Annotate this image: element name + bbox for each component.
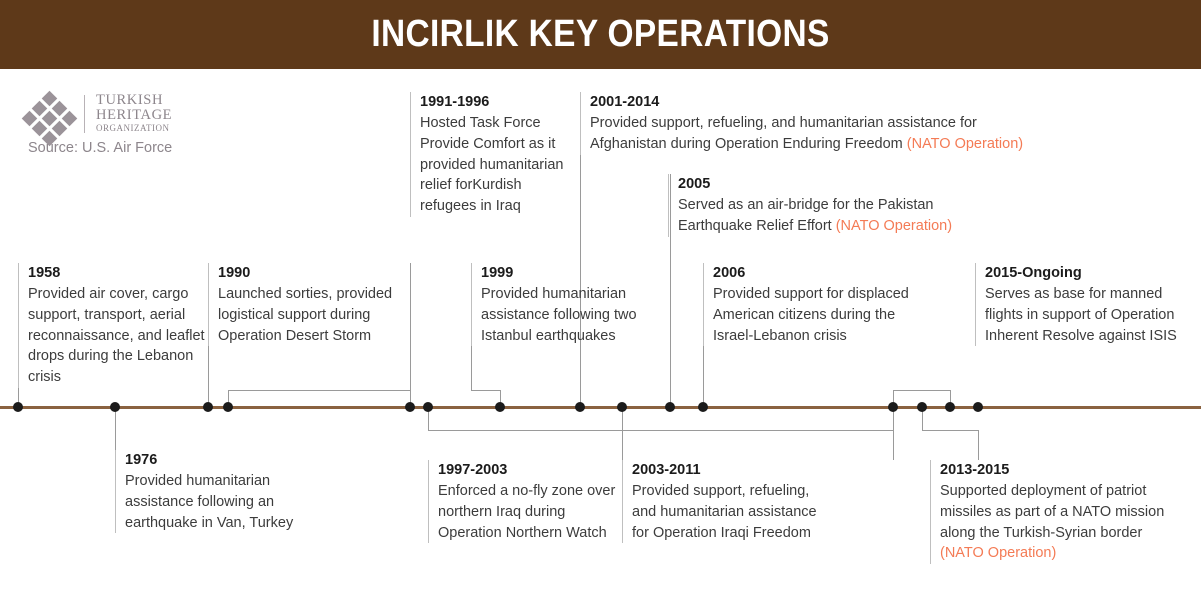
branding-block: TURKISH HERITAGE ORGANIZATION Source: U.… xyxy=(28,92,258,162)
logo-line-1: TURKISH xyxy=(96,93,172,108)
timeline-dot xyxy=(423,402,433,412)
entry-description: Supported deployment of patriot missiles… xyxy=(940,481,1170,564)
entry-year: 2001-2014 xyxy=(590,92,1040,113)
entry-description: Provided support, refueling, and humanit… xyxy=(632,481,837,543)
timeline-entry-1999[interactable]: 1999Provided humanitarian assistance fol… xyxy=(471,263,666,346)
timeline-entry-2015-Ongoing[interactable]: 2015-OngoingServes as base for manned fl… xyxy=(975,263,1190,346)
entry-description: Provided humanitarian assistance followi… xyxy=(481,284,666,346)
timeline-dot xyxy=(203,402,213,412)
timeline-dot xyxy=(575,402,585,412)
entry-description: Serves as base for manned flights in sup… xyxy=(985,284,1190,346)
entry-description: Provided humanitarian assistance followi… xyxy=(125,471,311,533)
page-title: INCIRLIK KEY OPERATIONS xyxy=(72,0,1129,69)
timeline-dot xyxy=(13,402,23,412)
entry-year: 2005 xyxy=(678,174,958,195)
entry-description: Provided support, refueling, and humanit… xyxy=(590,113,1040,155)
timeline-entry-2013-2015[interactable]: 2013-2015Supported deployment of patriot… xyxy=(930,460,1170,564)
timeline-dot xyxy=(973,402,983,412)
entry-year: 1976 xyxy=(125,450,311,471)
timeline-entry-2003-2011[interactable]: 2003-2011Provided support, refueling, an… xyxy=(622,460,837,543)
entry-year: 1990 xyxy=(218,263,398,284)
timeline-entry-1991-1996[interactable]: 1991-1996Hosted Task Force Provide Comfo… xyxy=(410,92,570,217)
entry-year: 2015-Ongoing xyxy=(985,263,1190,284)
timeline-entry-1997-2003[interactable]: 1997-2003Enforced a no-fly zone over nor… xyxy=(428,460,618,543)
timeline-entry-2006[interactable]: 2006Provided support for displaced Ameri… xyxy=(703,263,923,346)
entry-description: Provided air cover, cargo support, trans… xyxy=(28,284,214,388)
timeline-dot xyxy=(917,402,927,412)
entry-year: 2013-2015 xyxy=(940,460,1170,481)
entry-year: 1958 xyxy=(28,263,214,284)
timeline-dot xyxy=(405,402,415,412)
timeline-dot xyxy=(698,402,708,412)
timeline-entry-1976[interactable]: 1976Provided humanitarian assistance fol… xyxy=(115,450,311,533)
entry-year: 1997-2003 xyxy=(438,460,618,481)
timeline-dot xyxy=(495,402,505,412)
entry-year: 1999 xyxy=(481,263,666,284)
timeline-dot xyxy=(617,402,627,412)
turkish-heritage-diamond-logo-icon xyxy=(28,92,72,136)
entry-year: 2003-2011 xyxy=(632,460,837,481)
timeline-dot xyxy=(110,402,120,412)
entry-description: Launched sorties, provided logistical su… xyxy=(218,284,398,346)
logo-wordmark: TURKISH HERITAGE ORGANIZATION xyxy=(96,93,172,135)
nato-operation-tag: (NATO Operation) xyxy=(836,218,952,234)
entry-description: Enforced a no-fly zone over northern Ira… xyxy=(438,481,618,543)
timeline-dot xyxy=(665,402,675,412)
entry-description: Provided support for displaced American … xyxy=(713,284,923,346)
logo-divider xyxy=(84,95,85,133)
timeline-dot xyxy=(888,402,898,412)
entry-year: 2006 xyxy=(713,263,923,284)
entry-year: 1991-1996 xyxy=(420,92,570,113)
header-bar: INCIRLIK KEY OPERATIONS xyxy=(0,0,1201,69)
timeline-entry-2001-2014[interactable]: 2001-2014Provided support, refueling, an… xyxy=(580,92,1040,155)
timeline-dot xyxy=(945,402,955,412)
entry-description: Served as an air-bridge for the Pakistan… xyxy=(678,195,958,237)
timeline-entry-1990[interactable]: 1990Launched sorties, provided logistica… xyxy=(208,263,398,346)
source-label: Source: U.S. Air Force xyxy=(28,140,172,156)
logo-line-3: ORGANIZATION xyxy=(96,122,172,135)
nato-operation-tag: (NATO Operation) xyxy=(940,545,1056,561)
logo-line-2: HERITAGE xyxy=(96,108,172,123)
entry-description: Hosted Task Force Provide Comfort as it … xyxy=(420,113,570,217)
timeline-entry-2005[interactable]: 2005Served as an air-bridge for the Paki… xyxy=(668,174,958,237)
timeline-dot xyxy=(223,402,233,412)
nato-operation-tag: (NATO Operation) xyxy=(907,136,1023,152)
timeline-entry-1958[interactable]: 1958Provided air cover, cargo support, t… xyxy=(18,263,214,388)
